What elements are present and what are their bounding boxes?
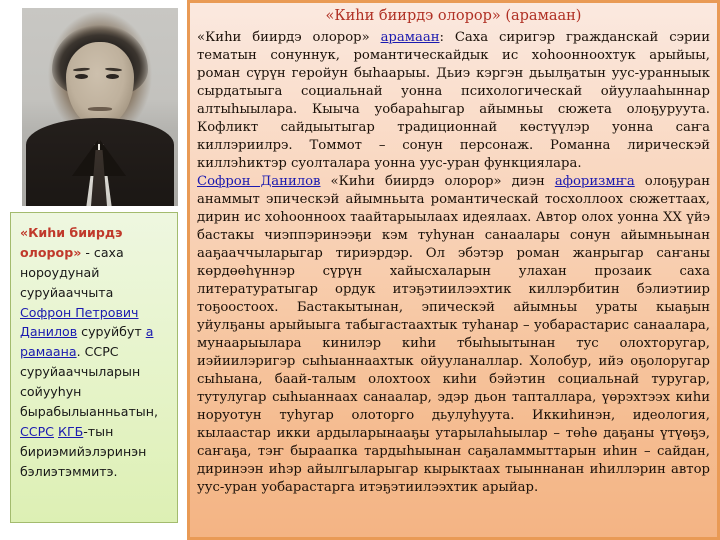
link-aramaan[interactable]: арамаан [381, 30, 440, 45]
portrait-eye-left [75, 74, 88, 79]
para1-body: : Саха сиригэр гражданскай сэрии тематын… [197, 30, 710, 171]
link-aforizmnga[interactable]: афоризмҥа [555, 174, 635, 189]
portrait-mouth [88, 107, 112, 111]
info-callout-box: «Киһи биирдэ олорор» - саха нороудунай с… [10, 212, 178, 523]
link-ssrs[interactable]: ССРС [20, 424, 54, 439]
para2-body: олоҕуран анаммыт эпическэй айымньыта ром… [197, 174, 710, 495]
para2-mid: «Киһи биирдэ олорор» диэн [320, 174, 554, 189]
portrait-eye-right [106, 74, 119, 79]
article-paragraph-1: «Киһи биирдэ олорор» арамаан: Саха сириг… [197, 29, 710, 173]
info-box-text-2: суруйбут [77, 324, 146, 339]
para1-lead: «Киһи биирдэ олорор» [197, 30, 381, 45]
link-sofron-danilov[interactable]: Софрон Данилов [197, 174, 320, 189]
portrait-photo-image [22, 8, 178, 206]
article-title: «Киһи биирдэ олорор» (арамаан) [197, 7, 710, 27]
left-column: «Киһи биирдэ олорор» - саха нороудунай с… [0, 0, 185, 540]
article-panel: «Киһи биирдэ олорор» (арамаан) «Киһи бии… [187, 0, 720, 540]
article-paragraph-2: Софрон Данилов «Киһи биирдэ олорор» диэн… [197, 173, 710, 497]
portrait-nose [93, 80, 107, 100]
author-portrait [22, 8, 178, 206]
link-kgb[interactable]: КГБ [58, 424, 83, 439]
